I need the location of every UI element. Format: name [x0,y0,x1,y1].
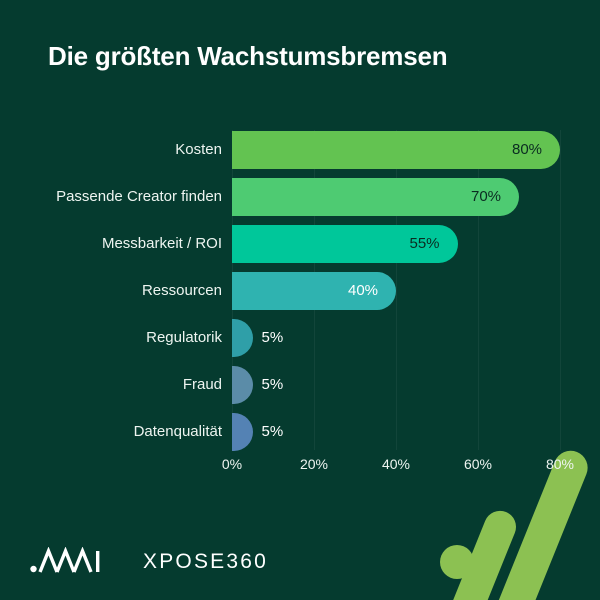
bar[interactable] [232,319,253,357]
bar-category-label: Kosten [175,130,222,170]
chart-row: Messbarkeit / ROI55% [0,224,600,264]
x-axis-tick-label: 0% [222,456,242,472]
bar-value-label: 5% [262,318,284,358]
page-title: Die größten Wachstumsbremsen [48,41,447,72]
chart-row: Datenqualität5% [0,412,600,452]
chart-row: Fraud5% [0,365,600,405]
green-circle-shape [440,545,474,579]
bar-value-label: 55% [410,224,440,264]
bar-value-label: 5% [262,365,284,405]
x-axis-tick-label: 20% [300,456,328,472]
brand-wordmark: XPOSE360 [143,550,268,574]
x-axis: 0%20%40%60%80% [0,456,600,482]
bar-chart: Kosten80%Passende Creator finden70%Messb… [0,118,600,468]
bar-value-label: 70% [471,177,501,217]
chart-row: Passende Creator finden70% [0,177,600,217]
bar-value-label: 40% [348,271,378,311]
bar-category-label: Ressourcen [142,271,222,311]
chart-row: Kosten80% [0,130,600,170]
bar-category-label: Regulatorik [146,318,222,358]
bar[interactable] [232,131,560,169]
bar[interactable] [232,413,253,451]
bar-value-label: 80% [512,130,542,170]
x-axis-tick-label: 40% [382,456,410,472]
bar-category-label: Passende Creator finden [56,177,222,217]
bar-category-label: Fraud [183,365,222,405]
bar-value-label: 5% [262,412,284,452]
x-axis-tick-label: 60% [464,456,492,472]
x-axis-tick-label: 80% [546,456,574,472]
bar[interactable] [232,366,253,404]
chart-row: Ressourcen40% [0,271,600,311]
chart-row: Regulatorik5% [0,318,600,358]
bar-category-label: Messbarkeit / ROI [102,224,222,264]
xpose-triple-chevron-icon [30,547,134,578]
bar-category-label: Datenqualität [134,412,222,452]
brand-logo: XPOSE360 [30,548,268,576]
green-capsule-shape [435,506,521,600]
